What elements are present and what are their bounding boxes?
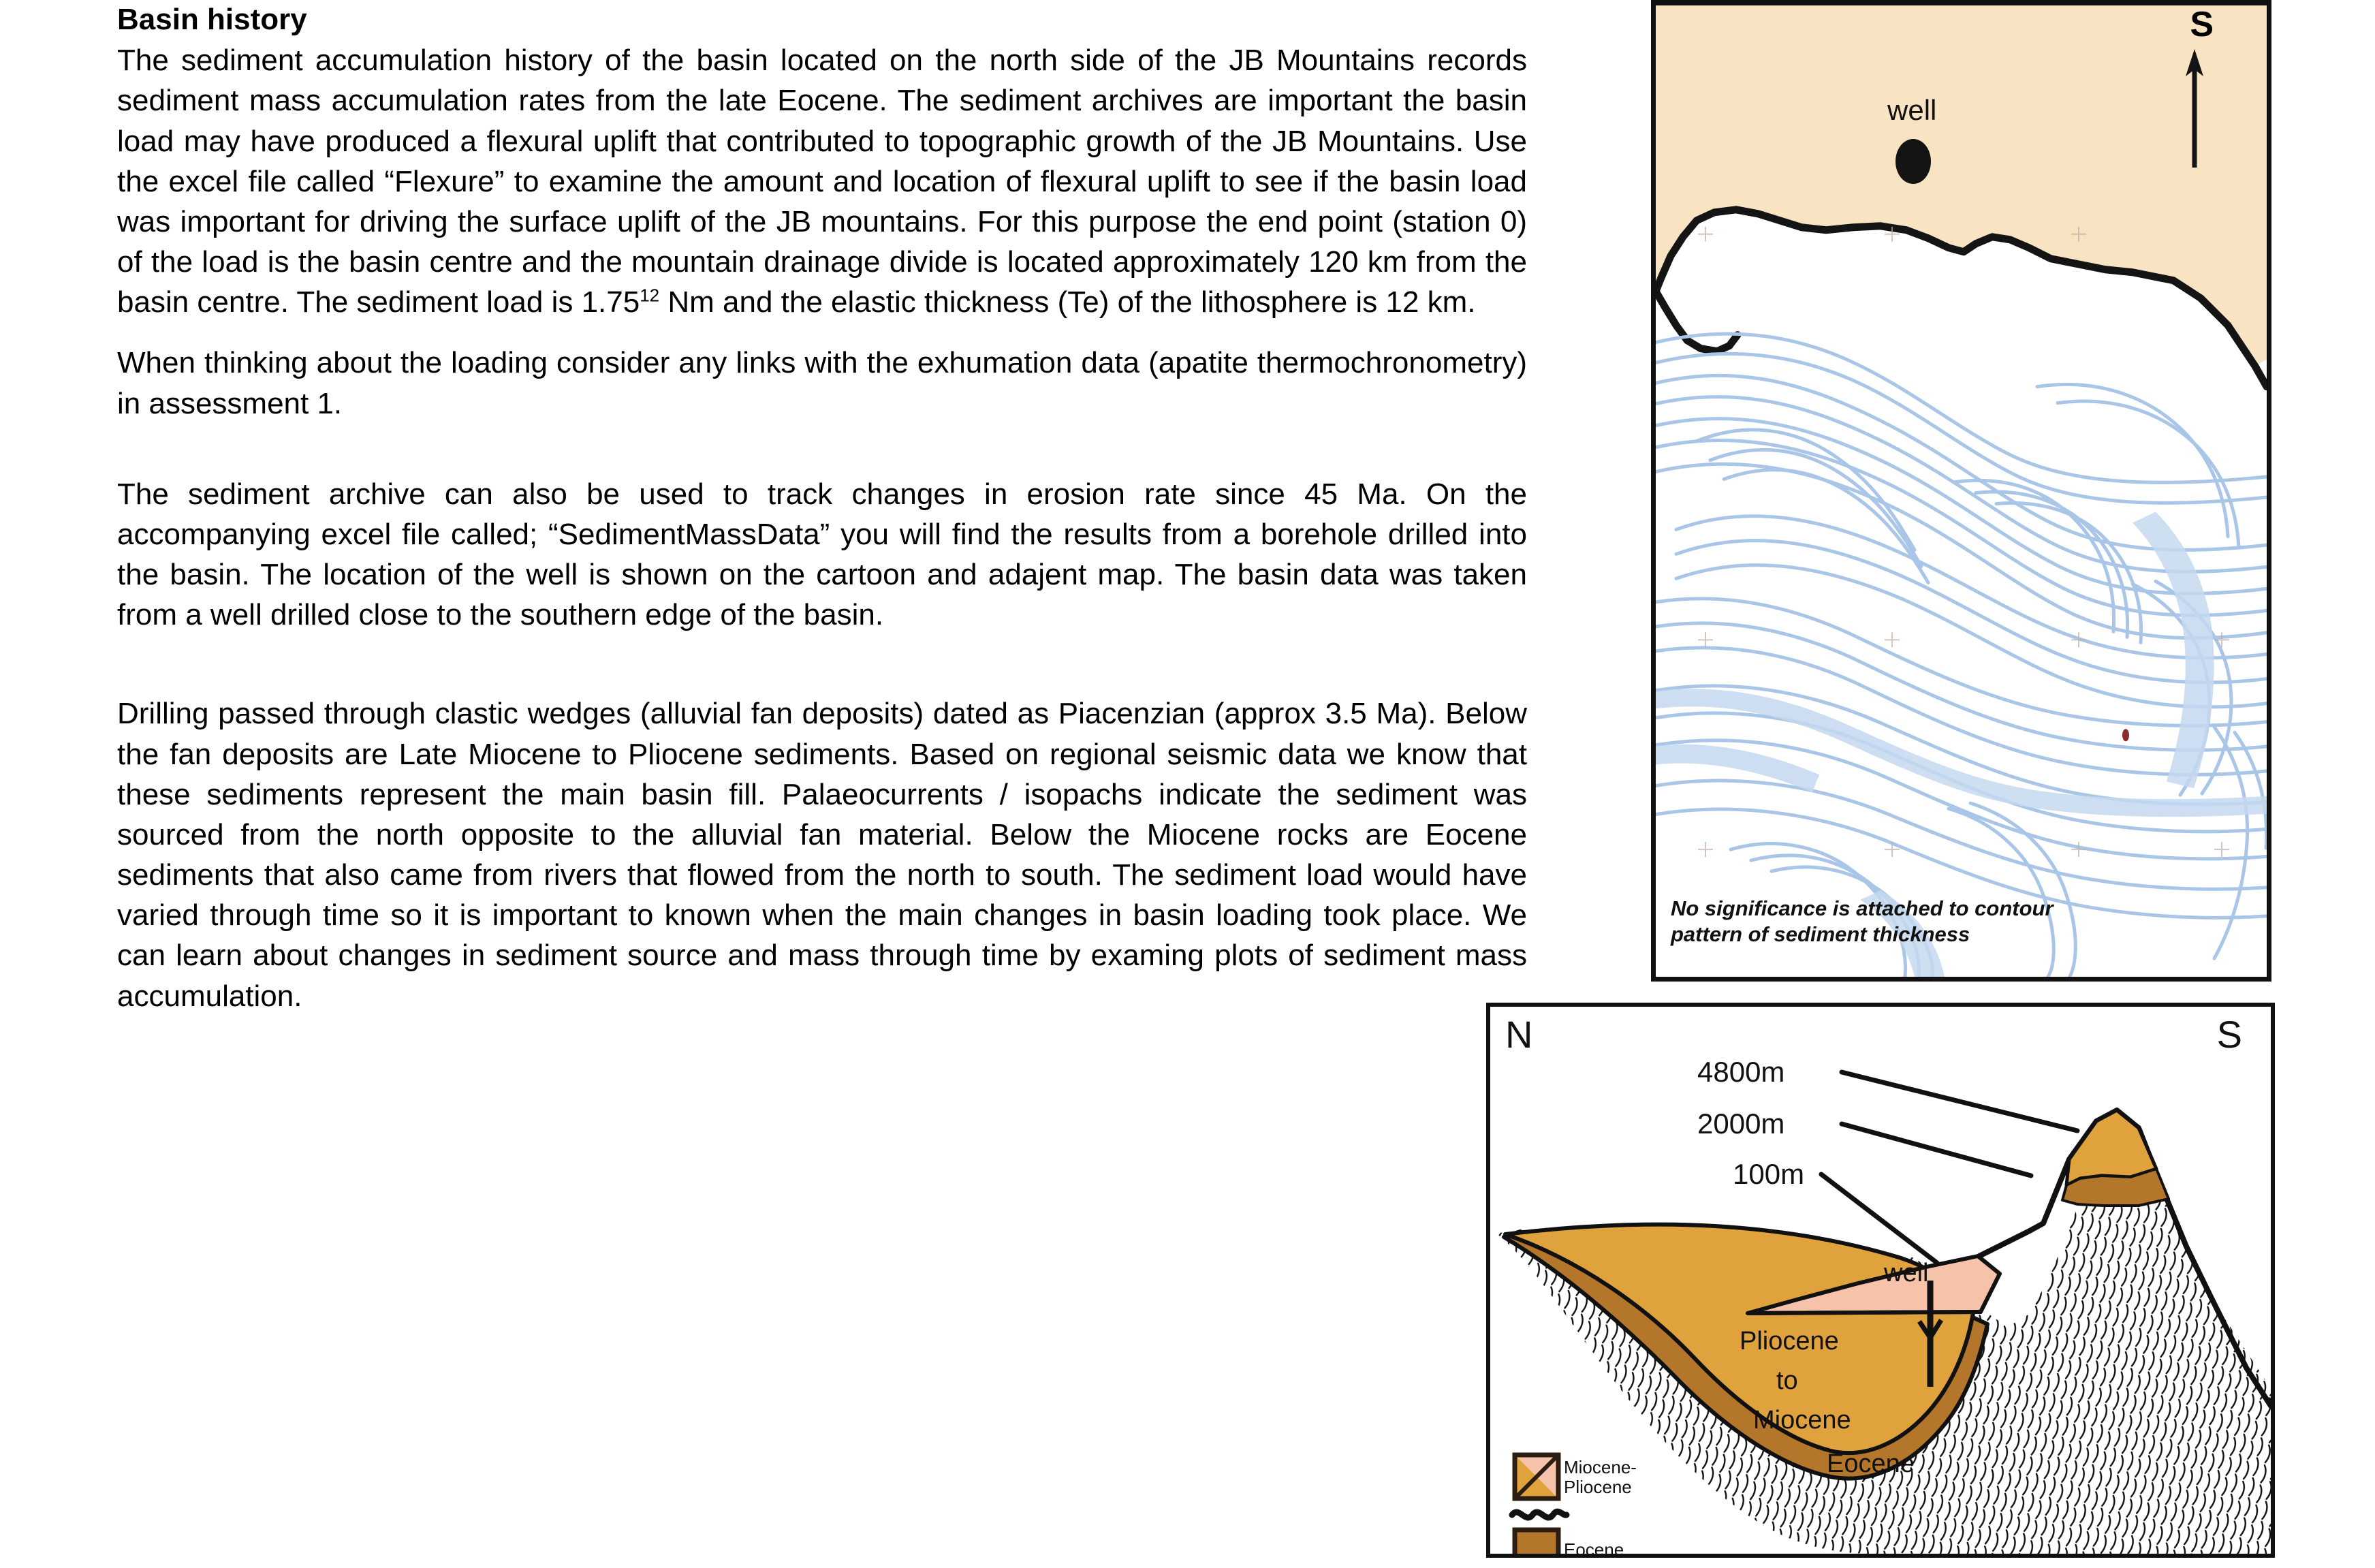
unit-label-miocene: Miocene bbox=[1753, 1406, 1851, 1435]
page-title: Basin history bbox=[117, 0, 1527, 39]
paragraph-basin-history: The sediment accumulation history of the… bbox=[117, 40, 1527, 322]
unit-label-eocene: Eocene bbox=[1827, 1449, 1915, 1479]
paragraph-spacer bbox=[117, 322, 1527, 343]
map-well-label: well bbox=[1887, 94, 1936, 127]
legend-label-line-1: Miocene- bbox=[1564, 1458, 1637, 1477]
sediment-load-exponent: 12 bbox=[640, 285, 659, 306]
paragraph-exhumation-link: When thinking about the loading consider… bbox=[117, 343, 1527, 423]
fan-upper-contact bbox=[1748, 1312, 1981, 1313]
elevation-label-2000m: 2000m bbox=[1697, 1108, 1784, 1140]
sediment-load-tail: Nm and the elastic thickness (Te) of the… bbox=[667, 285, 1475, 319]
north-arrow-icon bbox=[2181, 46, 2208, 169]
map-graphic bbox=[1656, 5, 2267, 977]
sediment-thickness-map: S well No significance is attached to co… bbox=[1651, 0, 2271, 982]
legend-label-miocene-pliocene: Miocene- Pliocene bbox=[1564, 1458, 1637, 1497]
map-direction-label-south: S bbox=[2190, 4, 2214, 45]
paragraph-spacer bbox=[117, 424, 1527, 474]
unit-label-to: to bbox=[1776, 1366, 1798, 1396]
legend-swatch-miocene-pliocene bbox=[1515, 1455, 1558, 1499]
unit-label-pliocene: Pliocene bbox=[1740, 1327, 1839, 1356]
cross-section-label-south: S bbox=[2217, 1012, 2242, 1056]
elevation-label-4800m: 4800m bbox=[1697, 1056, 1784, 1088]
map-caption-line-1: No significance is attached to contour bbox=[1671, 896, 2054, 922]
map-caption-line-2: pattern of sediment thickness bbox=[1671, 922, 2054, 948]
map-red-marker bbox=[2122, 729, 2129, 741]
legend-label-line-2: Pliocene bbox=[1564, 1477, 1637, 1497]
paragraph-sediment-archive: The sediment archive can also be used to… bbox=[117, 474, 1527, 636]
map-well-marker bbox=[1896, 139, 1931, 184]
legend-swatch-eocene bbox=[1515, 1530, 1558, 1554]
paragraph-spacer bbox=[117, 635, 1527, 693]
document-text-column: Basin history The sediment accumulation … bbox=[117, 0, 1527, 1016]
map-caption: No significance is attached to contour p… bbox=[1671, 896, 2054, 949]
cross-section-label-north: N bbox=[1505, 1012, 1532, 1056]
elevation-label-100m: 100m bbox=[1733, 1158, 1804, 1191]
paragraph-1-text: The sediment accumulation history of the… bbox=[117, 44, 1527, 319]
legend-label-eocene: Eocene bbox=[1564, 1539, 1624, 1558]
paragraph-drilling: Drilling passed through clastic wedges (… bbox=[117, 693, 1527, 1016]
basin-cross-section: N S 4800m 2000m 100m well Pliocene to Mi… bbox=[1486, 1003, 2275, 1558]
cross-section-well-label: well bbox=[1884, 1259, 1928, 1288]
